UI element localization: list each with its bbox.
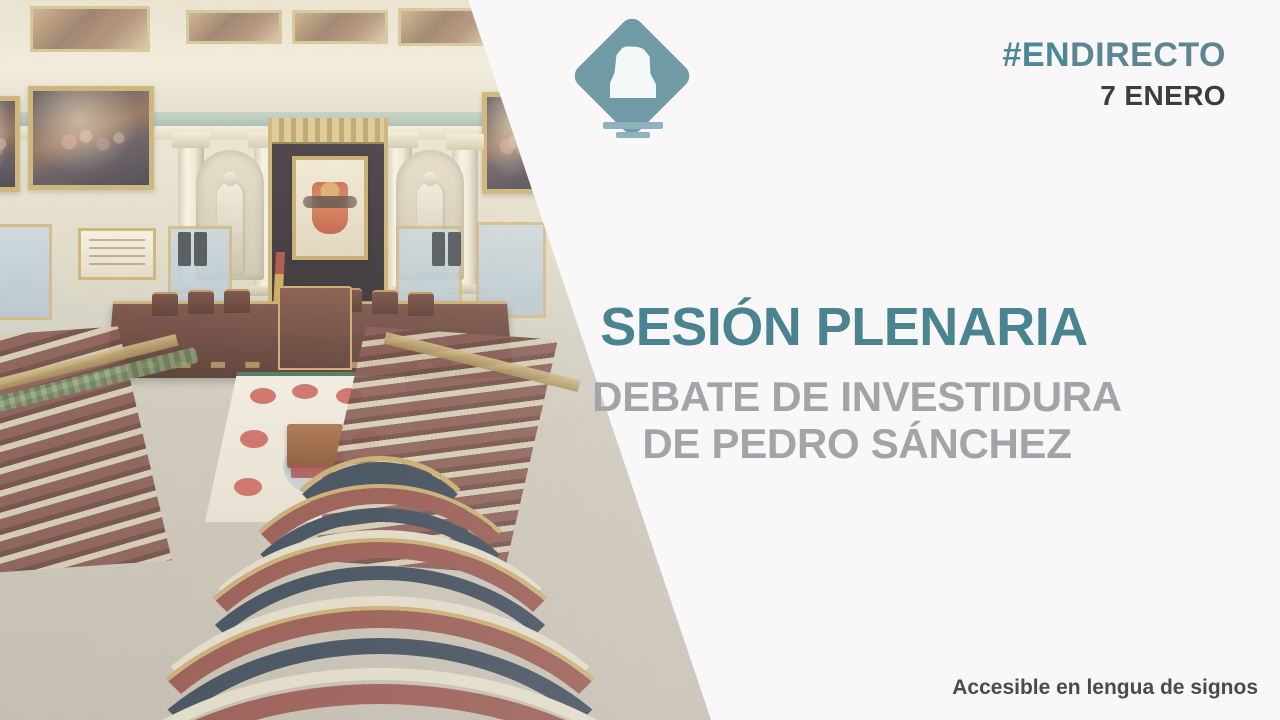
accessibility-note: Accesible en lengua de signos xyxy=(952,676,1258,700)
ceiling-artwork xyxy=(292,10,388,44)
spanish-coat-of-arms xyxy=(312,182,348,234)
speaker-rostrum xyxy=(278,286,352,370)
presidium-chair xyxy=(188,290,214,314)
broadcast-date: 7 ENERO xyxy=(1100,80,1226,112)
presidium-chair xyxy=(152,292,178,316)
hashtag-secondary: DIRECTO xyxy=(1070,36,1226,74)
ceiling-artwork xyxy=(186,10,282,44)
wall-painting xyxy=(28,86,154,190)
rug-motif xyxy=(240,430,268,448)
congreso-diputados-logo xyxy=(574,26,690,144)
rug-motif xyxy=(234,478,262,496)
hashtag-primary: #EN xyxy=(1002,36,1070,74)
page-title: SESIÓN PLENARIA xyxy=(468,300,1220,354)
loudspeaker xyxy=(432,232,445,266)
logo-base-bar-icon xyxy=(603,122,663,129)
plaque-inscription xyxy=(89,239,145,269)
wall-panel xyxy=(0,224,52,320)
canopy-valance xyxy=(272,118,384,144)
coat-of-arms-tapestry xyxy=(292,156,368,260)
loudspeaker xyxy=(194,232,207,266)
rug-motif xyxy=(250,388,276,404)
wall-painting xyxy=(0,96,20,192)
live-hashtag: #ENDIRECTO xyxy=(1002,36,1226,75)
presidium-chair xyxy=(408,292,434,316)
ceiling-artwork xyxy=(30,6,150,52)
presidium-chair xyxy=(372,290,398,314)
presidium-chair xyxy=(224,289,250,313)
loudspeaker xyxy=(448,232,461,266)
loudspeaker xyxy=(178,232,191,266)
logo-base-bar-icon xyxy=(616,132,650,138)
poster-canvas: #ENDIRECTO 7 ENERO SESIÓN PLENARIA DEBAT… xyxy=(0,0,1280,720)
page-subtitle: DEBATE DE INVESTIDURA DE PEDRO SÁNCHEZ xyxy=(468,373,1246,467)
subtitle-line-2: DE PEDRO SÁNCHEZ xyxy=(468,420,1246,467)
subtitle-line-1: DEBATE DE INVESTIDURA xyxy=(468,373,1246,420)
commemorative-plaque xyxy=(78,228,156,280)
rug-motif xyxy=(292,384,318,399)
